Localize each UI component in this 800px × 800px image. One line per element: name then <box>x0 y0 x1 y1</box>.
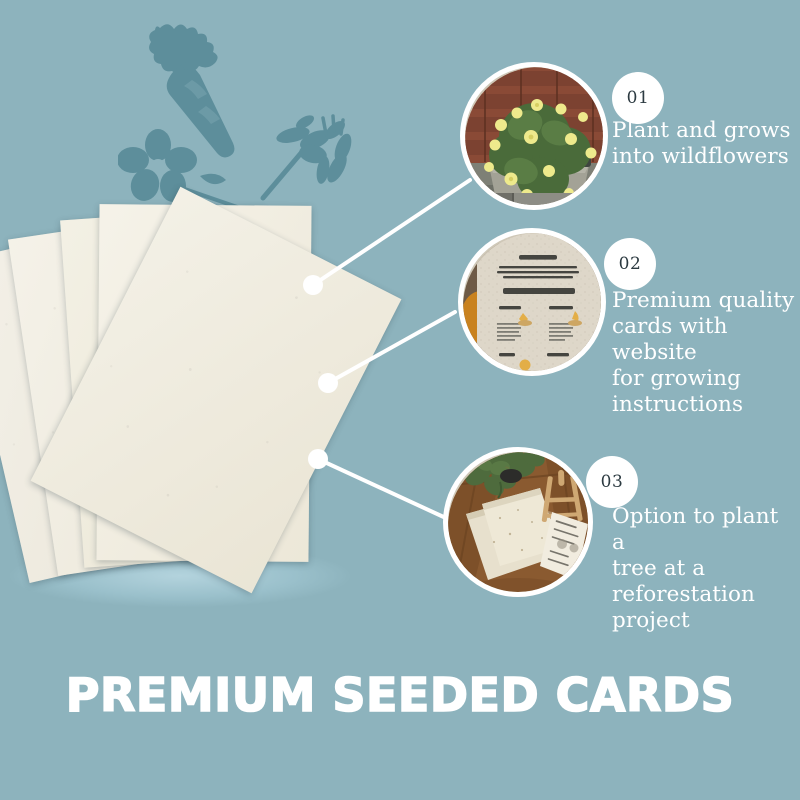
feature-number-2: 02 <box>619 254 642 274</box>
photo-planting-instructions[interactable] <box>458 228 606 376</box>
photo-reforestation[interactable] <box>443 447 593 597</box>
feature-badge-3: 03 <box>586 456 638 508</box>
connector-dot-3 <box>308 449 328 469</box>
connector-dot-1 <box>303 275 323 295</box>
feature-row-3: 03 Option to plant a tree at a reforesta… <box>0 0 800 250</box>
infographic-canvas: 01 Plant and grows into wildflowers <box>0 0 800 800</box>
page-title: PREMIUM SEEDED CARDS <box>0 668 800 722</box>
feature-number-3: 03 <box>601 472 624 492</box>
connector-dot-2 <box>318 373 338 393</box>
feature-caption-3: Option to plant a tree at a reforestatio… <box>612 504 792 634</box>
feature-caption-2: Premium quality cards with website for g… <box>612 288 800 418</box>
